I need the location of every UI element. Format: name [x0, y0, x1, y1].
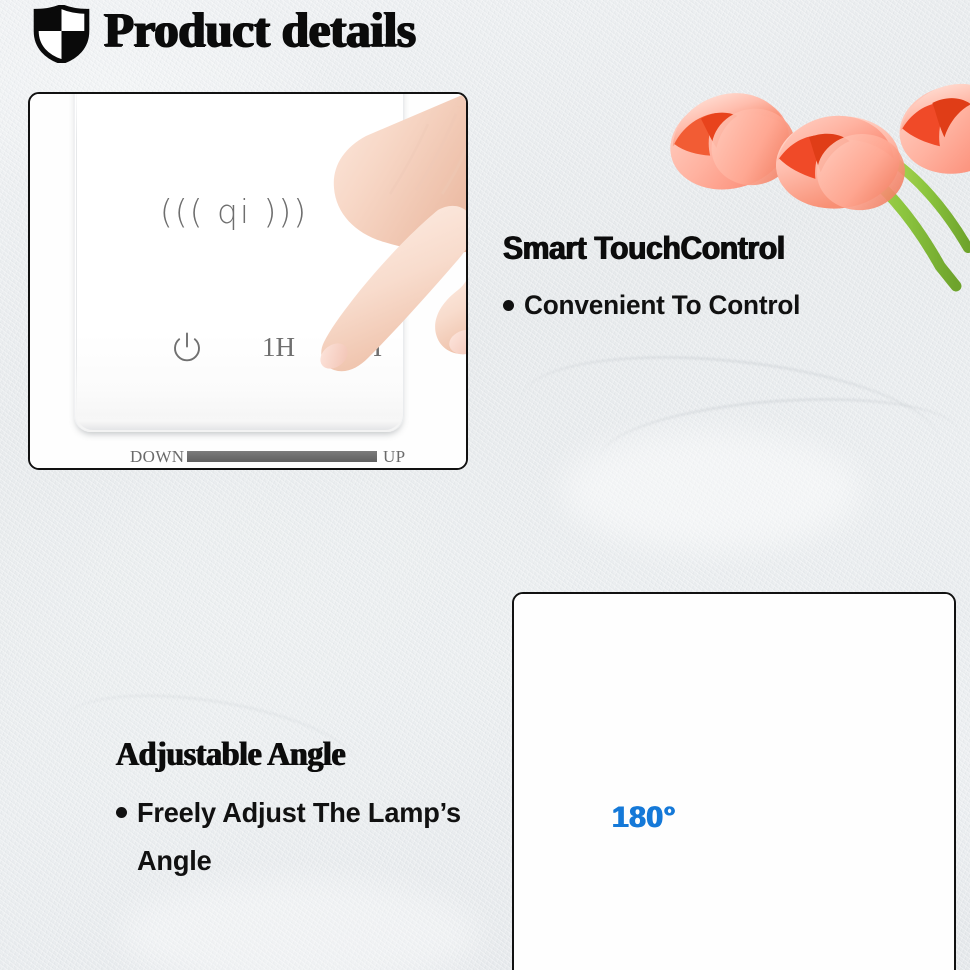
lamp-base-seam	[76, 92, 77, 416]
lamp-arm-photo: 180°	[512, 592, 956, 970]
angle-label: 180°	[612, 801, 676, 835]
slider-down-label: DOWN	[130, 446, 184, 468]
shield-icon	[33, 5, 90, 63]
feature-smart-touch-control: Smart TouchControl Convenient To Control	[503, 228, 933, 328]
feature-bullet-text: Convenient To Control	[524, 282, 800, 328]
bullet-dot	[503, 300, 514, 311]
photo-background	[514, 594, 954, 970]
pointing-hand	[306, 92, 468, 444]
page-title: Product details	[104, 2, 416, 58]
timer-button-label[interactable]: 1H	[262, 331, 295, 363]
slider-up-label: UP	[383, 446, 406, 468]
feature-heading: Smart TouchControl	[503, 228, 907, 268]
slider-bar[interactable]	[187, 451, 377, 462]
touch-panel-photo: ((( qi ))) 1H M DOWN UP	[28, 92, 468, 470]
bullet-dot	[116, 807, 127, 818]
feature-bullet-text: Freely Adjust The Lamp’s Angle	[137, 789, 486, 885]
brightness-slider[interactable]: DOWN UP	[130, 446, 418, 470]
product-details-page: Product details	[0, 0, 970, 970]
feature-bullet: Convenient To Control	[503, 282, 933, 328]
power-icon[interactable]	[172, 331, 202, 363]
feature-bullet: Freely Adjust The Lamp’s Angle	[116, 789, 536, 885]
feature-adjustable-angle: Adjustable Angle Freely Adjust The Lamp’…	[116, 735, 536, 885]
feature-heading: Adjustable Angle	[116, 735, 511, 775]
